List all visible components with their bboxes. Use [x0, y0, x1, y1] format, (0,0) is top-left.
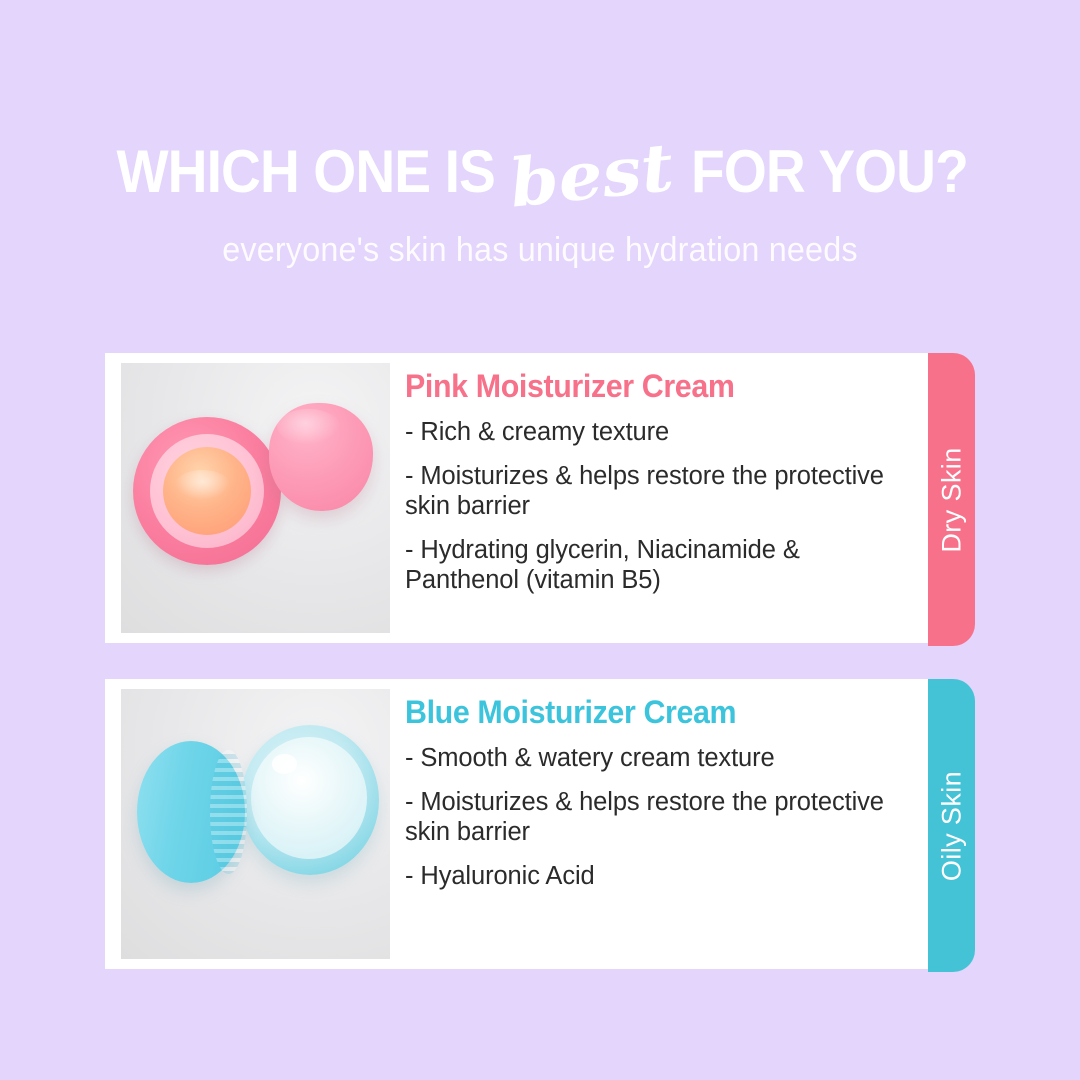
- blue-card-content: Blue Moisturizer Cream - Smooth & watery…: [405, 695, 914, 892]
- pink-feature-2: - Moisturizes & helps restore the protec…: [405, 462, 914, 522]
- skin-type-tab-dry[interactable]: Dry Skin: [928, 353, 975, 646]
- product-card-pink[interactable]: Pink Moisturizer Cream - Rich & creamy t…: [105, 353, 928, 643]
- blue-jar-base: [241, 725, 379, 875]
- blue-feature-2: - Moisturizes & helps restore the protec…: [405, 788, 914, 848]
- blue-moisturizer-jar-photo: [121, 689, 390, 959]
- blue-feature-3: - Hyaluronic Acid: [405, 862, 914, 892]
- header-section: WHICH ONE ISbestFOR YOU? everyone's skin…: [0, 0, 1080, 300]
- pink-card-content: Pink Moisturizer Cream - Rich & creamy t…: [405, 369, 914, 595]
- skin-type-tab-oily-label: Oily Skin: [936, 770, 967, 880]
- pink-jar-base: [133, 417, 281, 565]
- blue-gel-content: [251, 737, 367, 859]
- pink-feature-1: - Rich & creamy texture: [405, 418, 914, 448]
- headline-text-after: FOR YOU?: [691, 142, 968, 202]
- blue-feature-1: - Smooth & watery cream texture: [405, 744, 914, 774]
- pink-moisturizer-jar-photo: [121, 363, 390, 633]
- blue-product-title: Blue Moisturizer Cream: [405, 695, 889, 730]
- pink-jar-lid: [269, 403, 373, 511]
- page-subtitle: everyone's skin has unique hydration nee…: [27, 231, 1053, 270]
- pink-jar-inner-rim: [150, 434, 264, 548]
- pink-cream-content: [163, 447, 251, 535]
- pink-product-title: Pink Moisturizer Cream: [405, 369, 889, 404]
- skin-type-tab-oily[interactable]: Oily Skin: [928, 679, 975, 972]
- headline-text-before: WHICH ONE IS: [116, 142, 494, 202]
- headline-script-word: best: [501, 133, 683, 217]
- blue-jar-lid: [137, 741, 245, 883]
- product-card-blue[interactable]: Blue Moisturizer Cream - Smooth & watery…: [105, 679, 928, 969]
- pink-feature-3: - Hydrating glycerin, Niacinamide & Pant…: [405, 536, 914, 596]
- page-title: WHICH ONE ISbestFOR YOU?: [0, 136, 1080, 202]
- skin-type-tab-dry-label: Dry Skin: [936, 447, 967, 552]
